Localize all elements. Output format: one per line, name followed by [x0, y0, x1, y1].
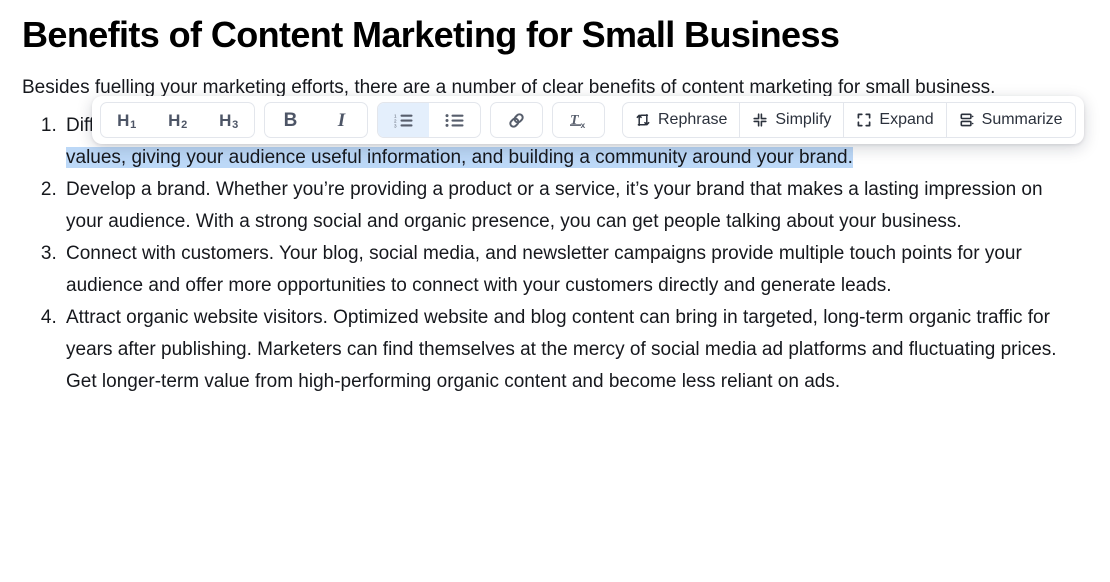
heading-2-level: 2	[181, 119, 187, 131]
bold-button[interactable]: B	[265, 103, 316, 137]
svg-text:3: 3	[394, 123, 397, 128]
list-button-group: 1 2 3	[377, 102, 481, 138]
italic-icon: I	[338, 111, 345, 130]
list-item[interactable]: Develop a brand. Whether you’re providin…	[62, 174, 1076, 238]
heading-2-button[interactable]: H2	[152, 103, 203, 137]
bold-icon: B	[284, 111, 298, 130]
list-item-text: Attract organic website visitors. Optimi…	[66, 307, 1057, 392]
summarize-button[interactable]: Summarize	[947, 103, 1075, 137]
list-item[interactable]: Attract organic website visitors. Optimi…	[62, 302, 1076, 398]
list-item-text: Connect with customers. Your blog, socia…	[66, 243, 1022, 296]
rephrase-label: Rephrase	[658, 112, 727, 128]
ai-actions-group: Rephrase Simplify	[622, 102, 1076, 138]
clear-formatting-icon: T x	[569, 111, 589, 130]
rephrase-swap-icon	[635, 112, 651, 128]
clear-formatting-button[interactable]: T x	[553, 103, 604, 137]
svg-text:x: x	[580, 120, 585, 130]
simplify-button[interactable]: Simplify	[740, 103, 843, 137]
ordered-list-button[interactable]: 1 2 3	[378, 103, 429, 137]
clear-formatting-group: T x	[552, 102, 605, 138]
document-canvas: Benefits of Content Marketing for Small …	[0, 0, 1110, 398]
expand-label: Expand	[879, 112, 933, 128]
expand-corners-icon	[856, 112, 872, 128]
link-button[interactable]	[491, 103, 542, 137]
list-item[interactable]: Connect with customers. Your blog, socia…	[62, 238, 1076, 302]
bulleted-list-button[interactable]	[429, 103, 480, 137]
link-icon	[507, 111, 526, 130]
floating-format-toolbar[interactable]: H1 H2 H3 B I 1 2 3	[92, 96, 1084, 144]
ordered-list-icon: 1 2 3	[394, 113, 413, 128]
heading-1-icon: H1	[117, 112, 136, 129]
text-style-group: B I	[264, 102, 368, 138]
simplify-collapse-icon	[752, 112, 768, 128]
summarize-stack-icon	[959, 112, 975, 128]
link-button-group	[490, 102, 543, 138]
page-title: Benefits of Content Marketing for Small …	[0, 0, 1110, 58]
heading-3-icon: H3	[219, 112, 238, 129]
heading-2-icon: H2	[168, 112, 187, 129]
simplify-label: Simplify	[775, 112, 831, 128]
bulleted-list-icon	[445, 113, 464, 128]
heading-1-button[interactable]: H1	[101, 103, 152, 137]
heading-3-button[interactable]: H3	[203, 103, 254, 137]
italic-button[interactable]: I	[316, 103, 367, 137]
heading-button-group: H1 H2 H3	[100, 102, 255, 138]
heading-1-level: 1	[130, 119, 136, 131]
heading-3-level: 3	[232, 119, 238, 131]
expand-button[interactable]: Expand	[844, 103, 945, 137]
benefits-list[interactable]: Differentiate your business. It can be h…	[0, 110, 1110, 398]
list-item-text: Develop a brand. Whether you’re providin…	[66, 179, 1043, 232]
rephrase-button[interactable]: Rephrase	[623, 103, 739, 137]
summarize-label: Summarize	[982, 112, 1063, 128]
